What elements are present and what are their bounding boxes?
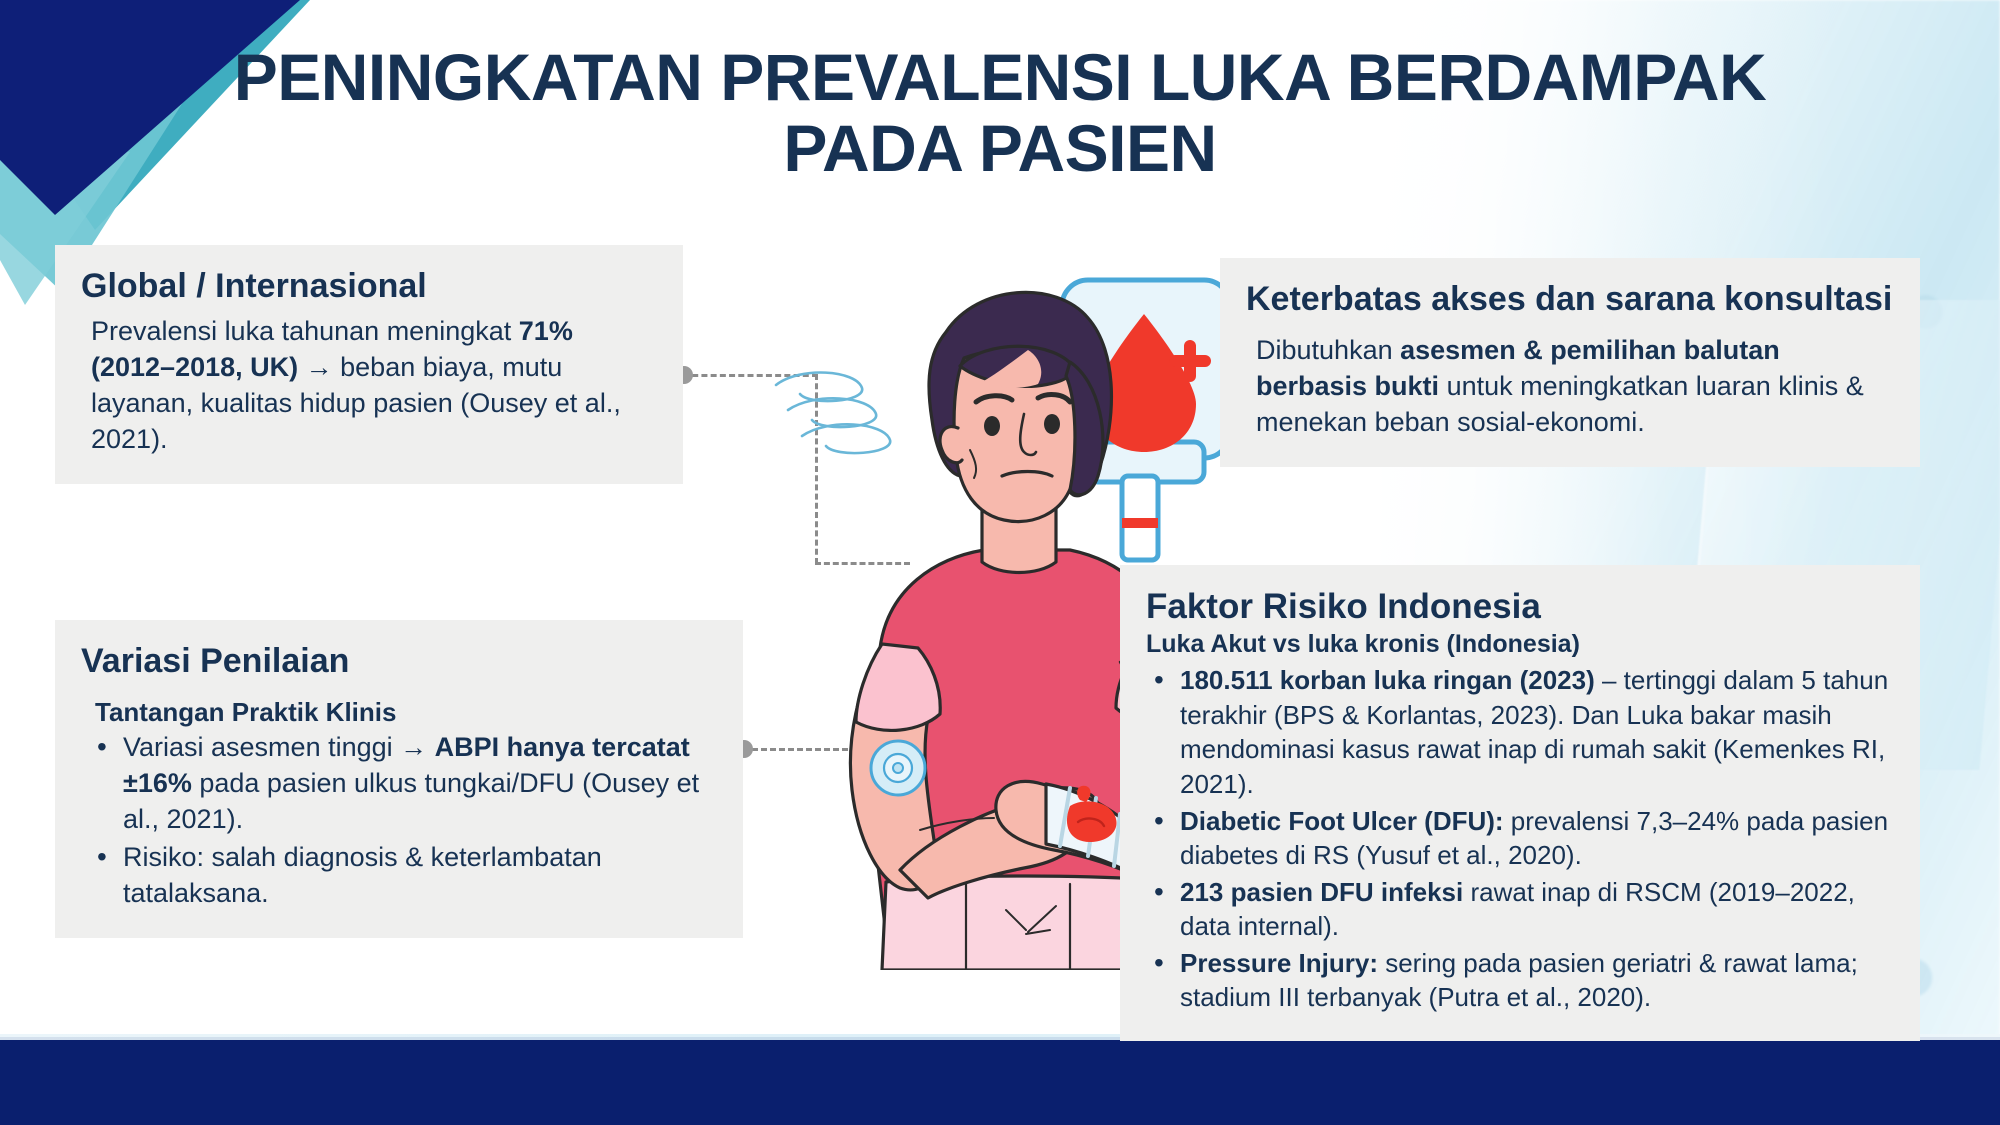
list-item: Risiko: salah diagnosis & keterlambatan …: [89, 840, 717, 912]
slide-canvas: PENINGKATAN PREVALENSI LUKA BERDAMPAK PA…: [0, 0, 2000, 1125]
bullet-bold: 180.511 korban luka ringan (2023): [1180, 665, 1595, 695]
pain-squiggle-icon: [776, 373, 890, 454]
footer-bar: [0, 1037, 2000, 1125]
card-akses-body-pre: Dibutuhkan: [1256, 335, 1400, 365]
card-global-heading: Global / Internasional: [81, 267, 657, 306]
card-akses-heading: Keterbatas akses dan sarana konsultasi: [1246, 280, 1894, 319]
card-faktor-subheading: Luka Akut vs luka kronis (Indonesia): [1146, 629, 1894, 659]
card-variasi-subheading: Tantangan Praktik Klinis: [81, 697, 717, 728]
card-akses-body: Dibutuhkan asesmen & pemilihan balutan b…: [1246, 333, 1894, 441]
list-item: Variasi asesmen tinggi → ABPI hanya terc…: [89, 730, 717, 838]
list-item: 180.511 korban luka ringan (2023) – tert…: [1146, 663, 1894, 801]
card-faktor-heading: Faktor Risiko Indonesia: [1146, 587, 1894, 627]
card-variasi-bullet-list: Variasi asesmen tinggi → ABPI hanya terc…: [81, 730, 717, 912]
list-item: Pressure Injury: sering pada pasien geri…: [1146, 946, 1894, 1015]
list-item: 213 pasien DFU infeksi rawat inap di RSC…: [1146, 875, 1894, 944]
bullet-bold: 213 pasien DFU infeksi: [1180, 877, 1463, 907]
card-global-body-pre: Prevalensi luka tahunan meningkat: [91, 316, 519, 346]
card-faktor-risiko-indonesia: Faktor Risiko Indonesia Luka Akut vs luk…: [1120, 565, 1920, 1041]
list-item: Diabetic Foot Ulcer (DFU): prevalensi 7,…: [1146, 804, 1894, 873]
bullet-bold: Diabetic Foot Ulcer (DFU):: [1180, 806, 1504, 836]
card-variasi-heading: Variasi Penilaian: [81, 642, 717, 681]
glucose-sensor-icon: [871, 741, 925, 795]
bullet-bold: Pressure Injury:: [1180, 948, 1378, 978]
card-global-body: Prevalensi luka tahunan meningkat 71% (2…: [81, 314, 657, 458]
card-variasi-penilaian: Variasi Penilaian Tantangan Praktik Klin…: [55, 620, 743, 938]
bullet-pre: Risiko: salah diagnosis & keterlambatan …: [123, 842, 602, 908]
page-title: PENINGKATAN PREVALENSI LUKA BERDAMPAK PA…: [0, 42, 2000, 185]
bullet-pre: Variasi asesmen tinggi →: [123, 732, 435, 762]
card-keterbatasan-akses: Keterbatas akses dan sarana konsultasi D…: [1220, 258, 1920, 467]
bullet-post: pada pasien ulkus tungkai/DFU (Ousey et …: [123, 768, 699, 834]
card-faktor-bullet-list: 180.511 korban luka ringan (2023) – tert…: [1146, 663, 1894, 1015]
card-global-internasional: Global / Internasional Prevalensi luka t…: [55, 245, 683, 484]
